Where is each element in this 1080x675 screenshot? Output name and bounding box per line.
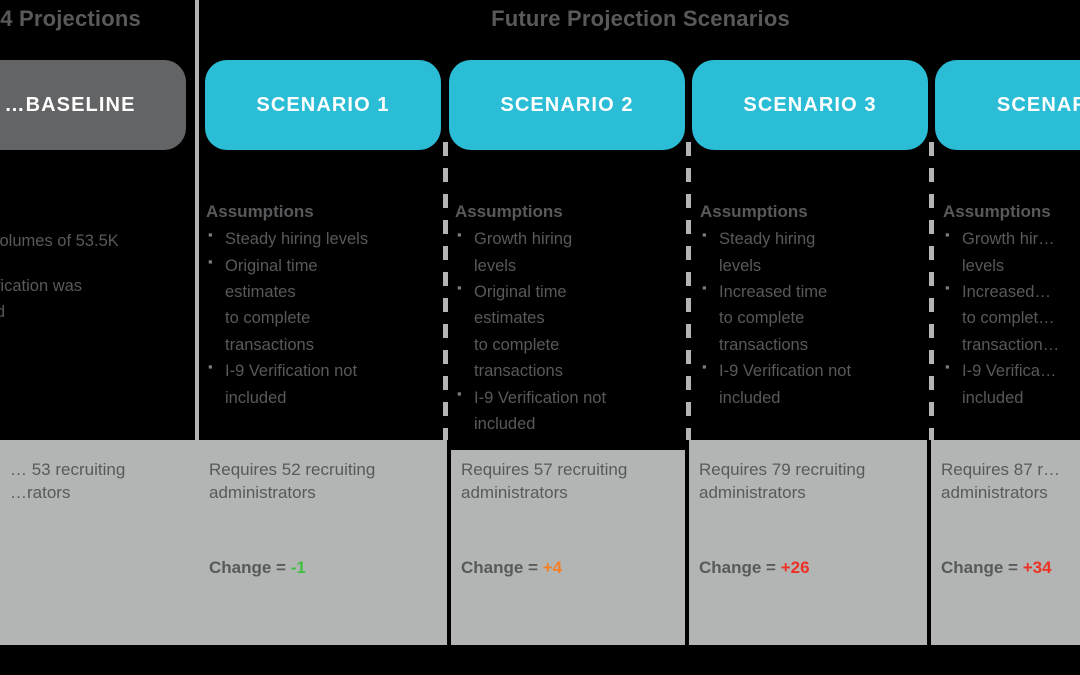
assumptions-list: …g volumes of 53.5K …erification was …de… bbox=[0, 228, 192, 325]
assumption-item: …g volumes of 53.5K bbox=[0, 228, 192, 254]
assumption-item: Growth hir… levels bbox=[962, 226, 1080, 279]
change-value: +34 bbox=[1023, 558, 1052, 577]
assumptions-heading: Assumptions bbox=[700, 198, 932, 225]
band-gap-3-4 bbox=[927, 440, 931, 645]
result-band-scenario-4: Requires 87 r… administrators Change = +… bbox=[931, 440, 1080, 645]
result-text: Requires 57 recruiting administrators bbox=[461, 458, 679, 505]
assumption-item: Increased… to complet… transaction… bbox=[962, 279, 1080, 358]
band-gap-2-3 bbox=[685, 440, 689, 645]
change-value: +4 bbox=[543, 558, 562, 577]
change-metric: Change = +4 bbox=[461, 558, 562, 578]
assumption-item: Steady hiring levels bbox=[225, 226, 444, 252]
change-label: Change = bbox=[699, 558, 781, 577]
page-title-left: …4 Projections bbox=[0, 6, 141, 32]
assumptions-heading: Assumptions bbox=[206, 198, 444, 225]
assumptions-list: Steady hiring levels Original time estim… bbox=[206, 226, 444, 411]
assumptions-heading: Assumptions bbox=[943, 198, 1080, 225]
assumptions-scenario-3: Assumptions Steady hiring levels Increas… bbox=[700, 198, 932, 411]
assumptions-scenario-4: Assumptions Growth hir… levels Increased… bbox=[943, 198, 1080, 411]
assumption-item: I-9 Verification not included bbox=[225, 358, 444, 411]
assumption-item: Increased time to complete transactions bbox=[719, 279, 932, 358]
assumption-item: I-9 Verifica… included bbox=[962, 358, 1080, 411]
assumption-item: I-9 Verification not included bbox=[719, 358, 932, 411]
assumption-item: Growth hiring levels bbox=[474, 226, 687, 279]
change-label: Change = bbox=[941, 558, 1023, 577]
pill-baseline[interactable]: …BASELINE bbox=[0, 60, 186, 150]
pill-scenario-3[interactable]: SCENARIO 3 bbox=[692, 60, 928, 150]
assumptions-list: Steady hiring levels Increased time to c… bbox=[700, 226, 932, 411]
change-label: Change = bbox=[461, 558, 543, 577]
assumption-item: Steady hiring levels bbox=[719, 226, 932, 279]
assumption-item: I-9 Verification not included bbox=[474, 385, 687, 438]
assumption-item: …erification was …ded bbox=[0, 273, 192, 326]
pill-scenario-4[interactable]: SCENAR… bbox=[935, 60, 1080, 150]
assumption-item: Original time estimates to complete tran… bbox=[225, 253, 444, 359]
result-text: Requires 52 recruiting administrators bbox=[209, 458, 441, 505]
result-text: Requires 79 recruiting administrators bbox=[699, 458, 921, 505]
result-text: … 53 recruiting …rators bbox=[10, 458, 189, 505]
change-value: +26 bbox=[781, 558, 810, 577]
result-band-scenario-3: Requires 79 recruiting administrators Ch… bbox=[689, 440, 927, 645]
assumptions-scenario-1: Assumptions Steady hiring levels Origina… bbox=[206, 198, 444, 411]
change-metric: Change = -1 bbox=[209, 558, 306, 578]
assumptions-list: Growth hir… levels Increased… to complet… bbox=[943, 226, 1080, 411]
assumption-item: Original time estimates to complete tran… bbox=[474, 279, 687, 385]
result-band-baseline: … 53 recruiting …rators bbox=[0, 440, 195, 645]
assumptions-scenario-2: Assumptions Growth hiring levels Origina… bbox=[455, 198, 687, 437]
pill-scenario-2[interactable]: SCENARIO 2 bbox=[449, 60, 685, 150]
assumptions-list: Growth hiring levels Original time estim… bbox=[455, 226, 687, 437]
change-metric: Change = +34 bbox=[941, 558, 1052, 578]
assumptions-heading: …tions bbox=[0, 200, 192, 227]
assumptions-heading: Assumptions bbox=[455, 198, 687, 225]
result-text: Requires 87 r… administrators bbox=[941, 458, 1074, 505]
change-label: Change = bbox=[209, 558, 291, 577]
change-value: -1 bbox=[291, 558, 306, 577]
bottom-letterbox bbox=[0, 645, 1080, 675]
slide-canvas: …4 Projections Future Projection Scenari… bbox=[0, 0, 1080, 675]
assumptions-baseline: …tions …g volumes of 53.5K …erification … bbox=[0, 200, 192, 325]
band-seam-baseline bbox=[195, 440, 199, 645]
change-metric: Change = +26 bbox=[699, 558, 810, 578]
result-band-scenario-2: Requires 57 recruiting administrators Ch… bbox=[451, 450, 685, 645]
result-band-scenario-1: Requires 52 recruiting administrators Ch… bbox=[199, 440, 447, 645]
pill-scenario-1[interactable]: SCENARIO 1 bbox=[205, 60, 441, 150]
page-title-right: Future Projection Scenarios bbox=[201, 6, 1080, 32]
band-gap-1-2 bbox=[447, 440, 451, 645]
